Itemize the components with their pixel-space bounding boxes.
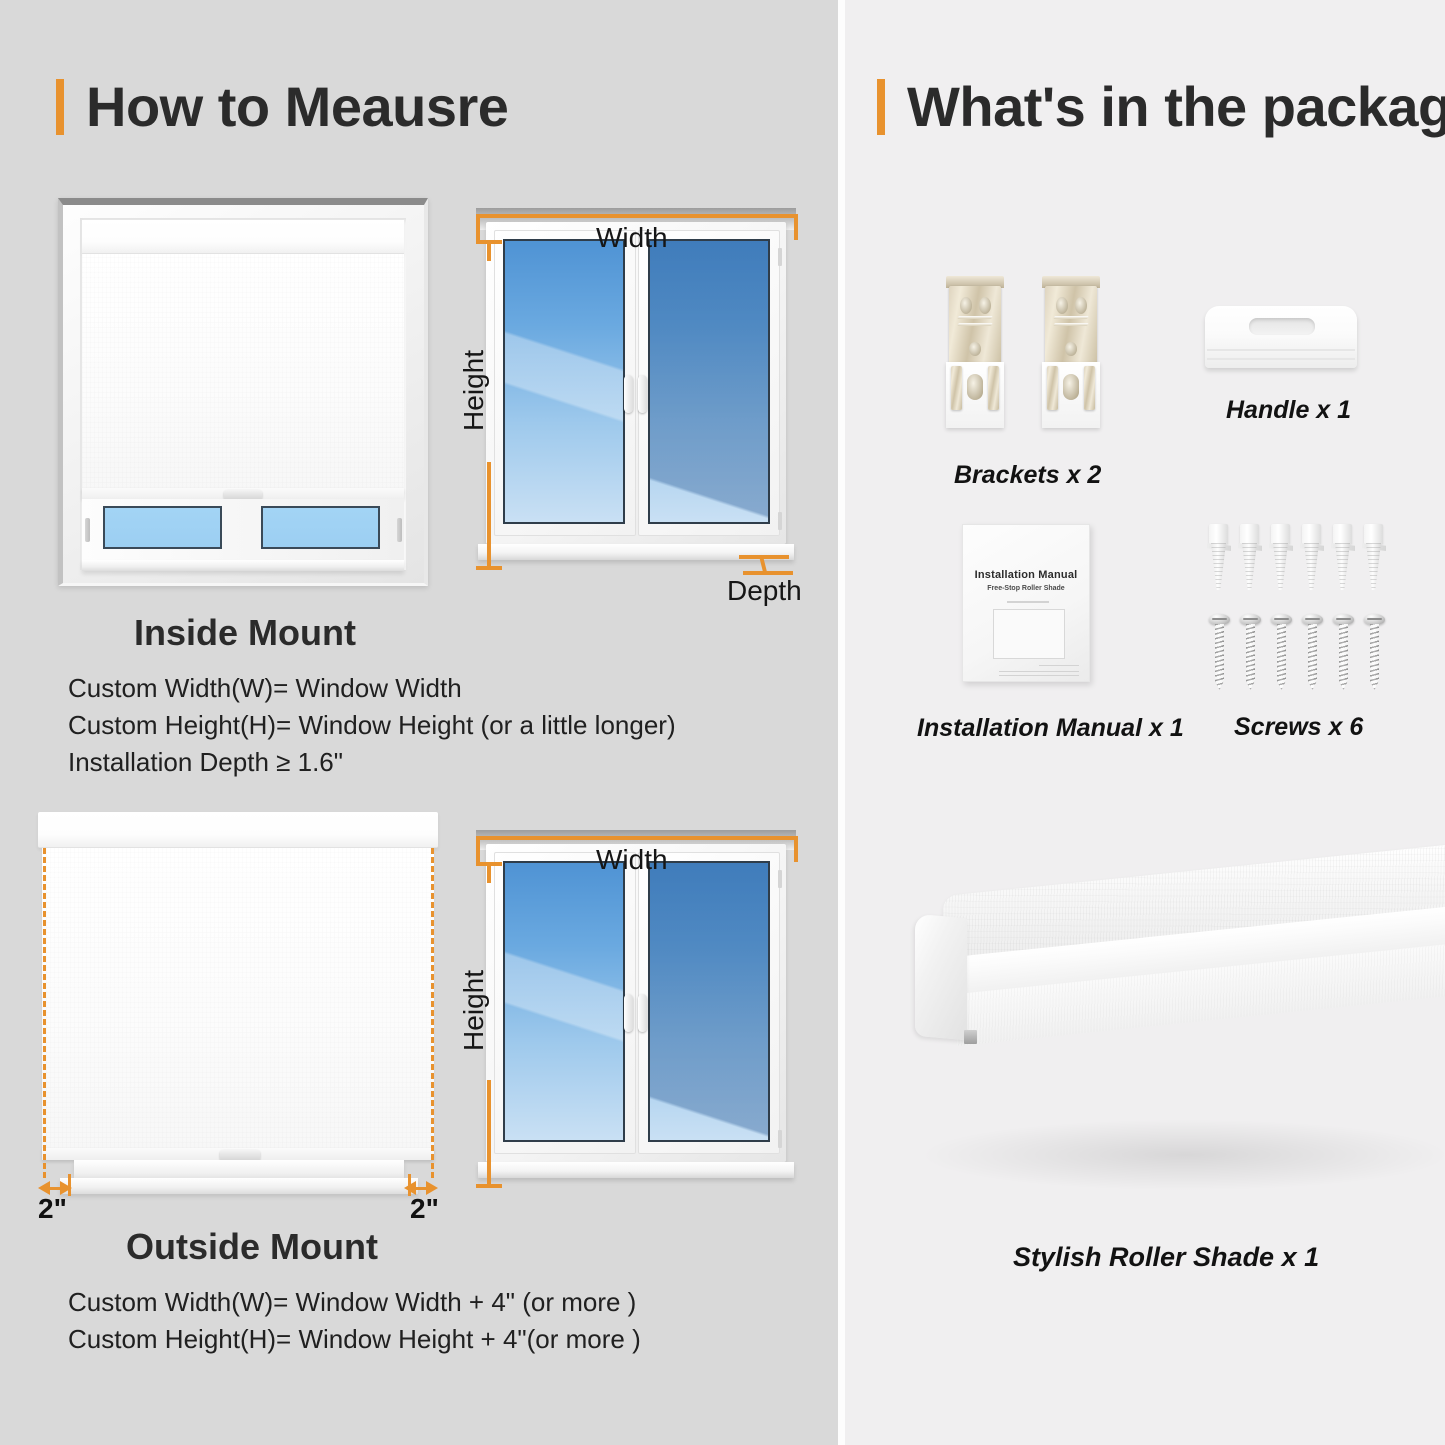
screw-4-slot	[1305, 618, 1320, 620]
outside-shade-fabric	[42, 848, 434, 1153]
handle-groove-2	[1207, 358, 1355, 360]
bracket-1-center-slot	[967, 374, 983, 400]
screw-5	[1333, 614, 1355, 692]
screw-4-shaft	[1308, 624, 1317, 690]
wall-anchor-6	[1362, 524, 1388, 590]
screws-image	[1207, 524, 1397, 694]
height-dimension-line-bottom	[487, 462, 491, 570]
accent-bar-icon	[56, 79, 64, 135]
bracket-2-hole-a	[1056, 297, 1068, 314]
inside-mount-line-3: Installation Depth ≥ 1.6"	[68, 744, 676, 781]
window-latch-top-icon-2	[778, 870, 782, 888]
bracket-1-rib-1	[957, 316, 992, 319]
overhang-right-label: 2"	[410, 1193, 439, 1225]
bracket-2-rib-2	[1053, 323, 1088, 326]
screw-2-slot	[1243, 618, 1258, 620]
bracket-1-rib-2	[957, 323, 992, 326]
outside-mount-line-1: Custom Width(W)= Window Width + 4" (or m…	[68, 1284, 641, 1321]
depth-dimension-top	[739, 555, 789, 559]
height-label-2: Height	[458, 970, 490, 1051]
window-sill	[82, 560, 404, 571]
window-latch-bottom-icon	[778, 512, 782, 530]
wall-anchor-2	[1238, 524, 1264, 590]
how-to-measure-heading: How to Meausre	[56, 74, 508, 139]
overhang-left-label: 2"	[38, 1193, 67, 1225]
how-to-measure-title: How to Meausre	[86, 74, 508, 139]
window-handle-right-icon-2	[638, 994, 647, 1032]
wall-anchor-3-body	[1273, 543, 1288, 590]
bracket-2-clip-left	[1047, 366, 1058, 410]
bracket-2-center-slot	[1063, 374, 1079, 400]
screw-2	[1240, 614, 1262, 692]
inside-mount-line-1: Custom Width(W)= Window Width	[68, 670, 676, 707]
width-dimension-cap-right-2	[794, 836, 798, 862]
manual-rule-4	[999, 675, 1079, 676]
bracket-1-clip-right	[988, 366, 999, 410]
package-heading: What's in the package	[877, 74, 1445, 139]
handle-grip-slot	[1249, 318, 1315, 335]
outside-mount-line-2: Custom Height(H)= Window Height + 4"(or …	[68, 1321, 641, 1358]
window-hinge-left-icon	[85, 518, 90, 542]
bracket-2	[1034, 270, 1108, 446]
width-dimension-cap-left	[476, 214, 480, 240]
infographic-canvas: How to Meausre	[0, 0, 1445, 1445]
height-dimension-cap-bottom	[476, 566, 502, 570]
screw-4	[1302, 614, 1324, 692]
overhang-guide-right	[431, 848, 434, 1178]
height-dimension-cap-top	[476, 240, 502, 244]
screw-6-shaft	[1370, 624, 1379, 690]
screw-6-slot	[1367, 618, 1382, 620]
window-latch-top-icon	[778, 248, 782, 266]
outside-shade-valance	[38, 812, 438, 848]
width-label-2: Width	[596, 844, 668, 876]
screw-1	[1209, 614, 1231, 692]
bracket-1-hole-b	[979, 297, 991, 314]
bracket-1	[938, 270, 1012, 446]
wall-anchor-2-head	[1240, 524, 1259, 544]
height-label: Height	[458, 350, 490, 431]
manual-rule-2	[1039, 665, 1079, 666]
shade-fabric	[82, 254, 404, 493]
roller-shade-metal-tip	[964, 1030, 977, 1044]
window-pane-left-2	[503, 861, 625, 1142]
handle-label: Handle x 1	[1226, 396, 1351, 425]
shade-valance	[82, 220, 404, 254]
depth-label: Depth	[727, 575, 802, 607]
wall-anchor-1-body	[1211, 543, 1226, 590]
brackets-label: Brackets x 2	[954, 461, 1101, 490]
bracket-2-hole-b	[1075, 297, 1087, 314]
bracket-1-clip-left	[951, 366, 962, 410]
width-dimension-line-2	[476, 836, 798, 840]
handle-image	[1205, 300, 1365, 390]
wall-anchor-4-body	[1304, 543, 1319, 590]
bracket-2-rib-1	[1053, 316, 1088, 319]
how-to-measure-panel: How to Meausre	[0, 0, 838, 1445]
roller-shade-end-cap	[915, 914, 967, 1041]
bracket-1-hole-a	[960, 297, 972, 314]
screw-3	[1271, 614, 1293, 692]
wall-anchor-3	[1269, 524, 1295, 590]
screw-3-shaft	[1277, 624, 1286, 690]
wall-anchor-4-head	[1302, 524, 1321, 544]
handle-groove-1	[1207, 349, 1355, 351]
roller-shade-image	[885, 870, 1445, 1210]
roller-shade-drop-shadow	[925, 1120, 1445, 1190]
screw-1-shaft	[1215, 624, 1224, 690]
bracket-2-clip-right	[1084, 366, 1095, 410]
window-glass-right	[261, 506, 380, 549]
window-handle-left-icon	[624, 375, 633, 413]
outside-mount-instructions: Custom Width(W)= Window Width + 4" (or m…	[68, 1284, 641, 1358]
package-title: What's in the package	[907, 74, 1445, 139]
wall-anchor-5-head	[1333, 524, 1352, 544]
inside-mount-window-illustration	[58, 198, 428, 586]
width-dimension-cap-right	[794, 214, 798, 240]
manual-diagram-box	[993, 609, 1065, 659]
width-dimension-line	[476, 214, 798, 218]
screw-2-shaft	[1246, 624, 1255, 690]
manual-cover: Installation Manual Free-Stop Roller Sha…	[962, 524, 1090, 682]
overhang-left-tick	[68, 1174, 71, 1196]
inside-mount-title: Inside Mount	[134, 612, 356, 654]
window-glass-left	[103, 506, 222, 549]
roller-shade-label: Stylish Roller Shade x 1	[1013, 1242, 1319, 1273]
window-sill-ledge-2	[478, 1162, 794, 1178]
wall-anchor-2-body	[1242, 543, 1257, 590]
height-dimension-cap-top-2	[476, 862, 502, 866]
screw-3-slot	[1274, 618, 1289, 620]
height-dimension-cap-bottom-2	[476, 1184, 502, 1188]
window-pane-right-2	[648, 861, 770, 1142]
wall-anchor-5	[1331, 524, 1357, 590]
outside-mount-title: Outside Mount	[126, 1226, 378, 1268]
screws-label: Screws x 6	[1234, 713, 1363, 742]
window-hinge-right-icon	[397, 518, 402, 542]
screw-6	[1364, 614, 1386, 692]
wall-anchor-4	[1300, 524, 1326, 590]
bracket-2-hole-c	[1065, 342, 1077, 356]
width-dimension-cap-left-2	[476, 836, 480, 862]
window-latch-bottom-icon-2	[778, 1130, 782, 1148]
height-dimension-line-bottom-2	[487, 1080, 491, 1188]
wall-anchor-5-body	[1335, 543, 1350, 590]
installation-manual-label: Installation Manual x 1	[917, 714, 1184, 743]
wall-anchor-1-head	[1209, 524, 1228, 544]
manual-cover-title: Installation Manual	[963, 569, 1089, 581]
window-handle-right-icon	[638, 375, 647, 413]
window-pane-left	[503, 239, 625, 524]
package-contents-panel: What's in the package	[845, 0, 1445, 1445]
window-handle-left-icon-2	[624, 994, 633, 1032]
screw-1-slot	[1212, 618, 1227, 620]
wall-anchor-6-body	[1366, 543, 1381, 590]
window-pane-right	[648, 239, 770, 524]
wall-anchor-3-head	[1271, 524, 1290, 544]
panel-divider	[838, 0, 845, 1445]
overhang-guide-left	[43, 848, 46, 1178]
accent-bar-icon-2	[877, 79, 885, 135]
wall-anchor-1	[1207, 524, 1233, 590]
brackets-image	[938, 270, 1128, 450]
bracket-1-hole-c	[969, 342, 981, 356]
outside-mount-illustration: 2" 2"	[38, 808, 444, 1208]
screw-5-shaft	[1339, 624, 1348, 690]
wall-anchor-6-head	[1364, 524, 1383, 544]
inside-mount-line-2: Custom Height(H)= Window Height (or a li…	[68, 707, 676, 744]
outside-window-sill-lower	[60, 1178, 418, 1194]
manual-rule-1	[1007, 601, 1049, 603]
manual-rule-3	[999, 671, 1079, 672]
inside-mount-instructions: Custom Width(W)= Window Width Custom Hei…	[68, 670, 676, 781]
screw-5-slot	[1336, 618, 1351, 620]
outside-mount-measure-diagram: Width Height	[462, 822, 810, 1222]
width-label: Width	[596, 222, 668, 254]
manual-cover-subtitle: Free-Stop Roller Shade	[963, 585, 1089, 592]
installation-manual-image: Installation Manual Free-Stop Roller Sha…	[962, 524, 1102, 684]
inside-mount-measure-diagram: Width Height Depth	[462, 200, 810, 600]
